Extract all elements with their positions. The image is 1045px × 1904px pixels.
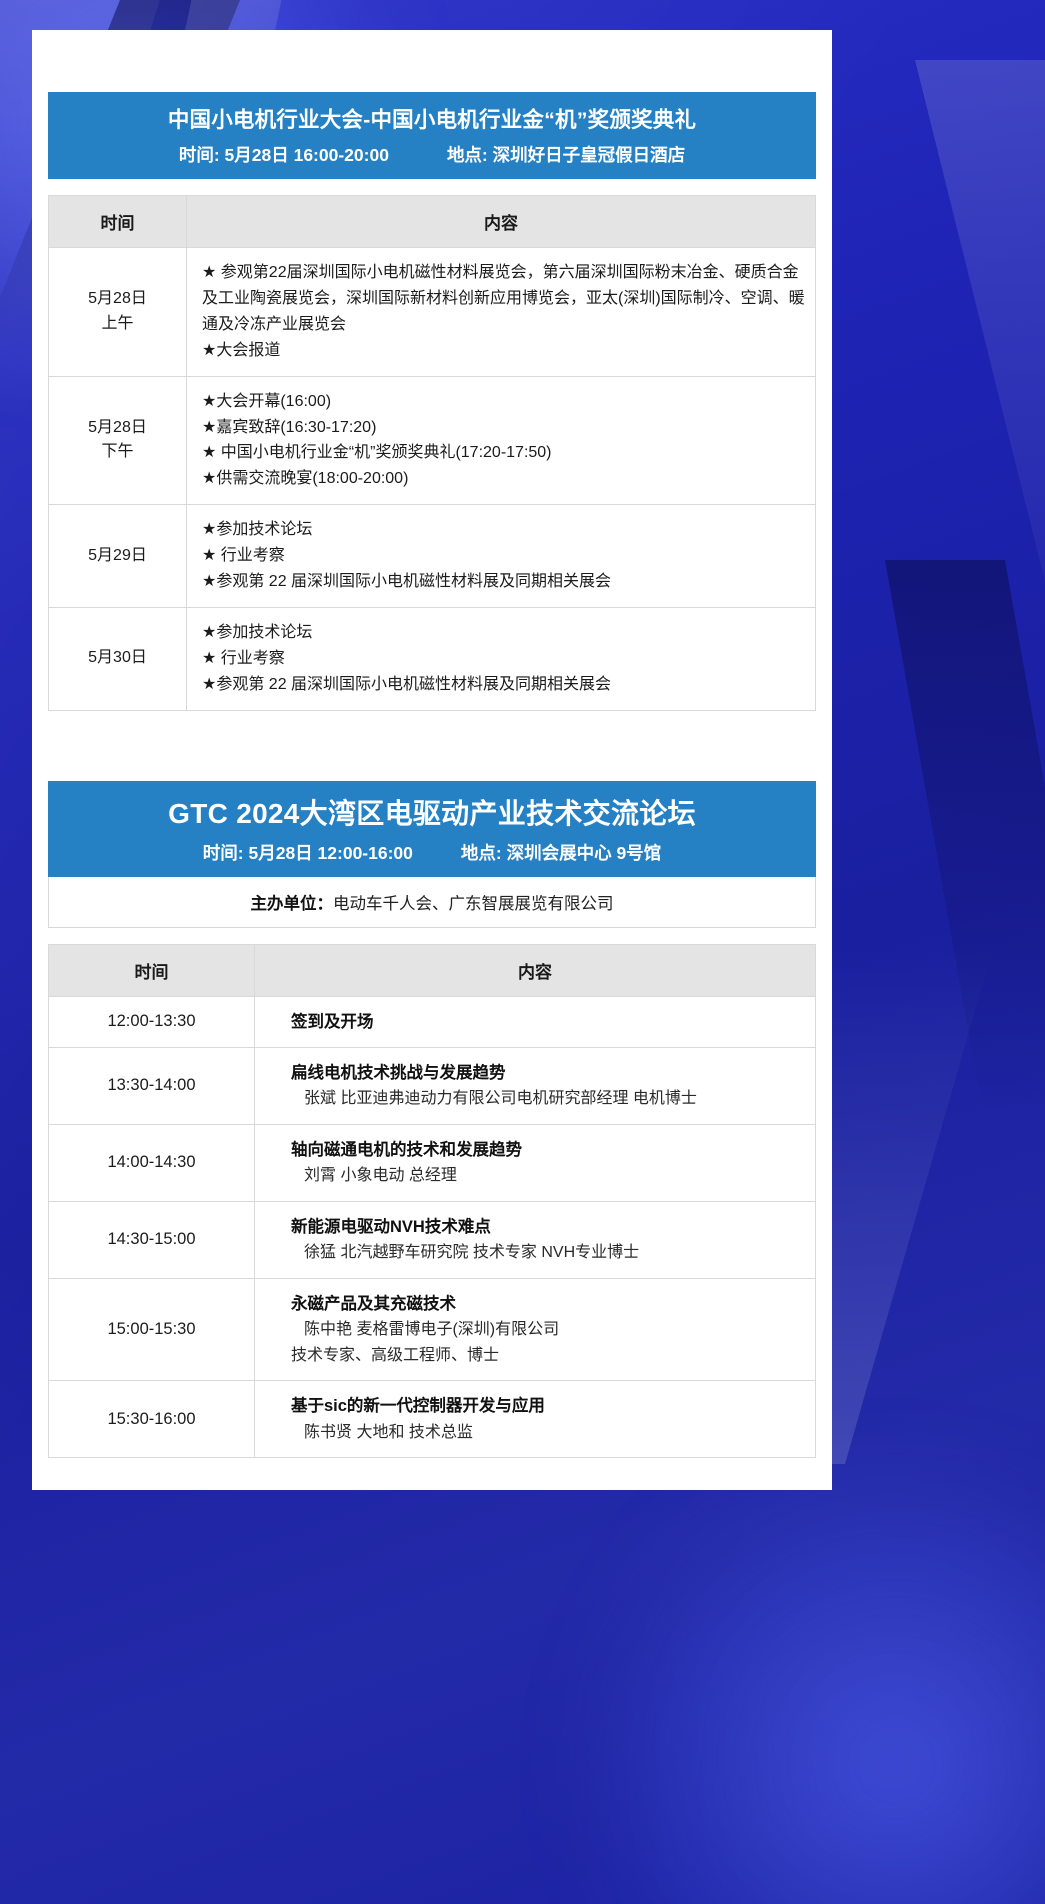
row-content: 轴向磁通电机的技术和发展趋势 刘霄 小象电动 总经理 — [255, 1124, 816, 1201]
content-line: ★ 行业考察 — [202, 646, 805, 672]
section2-banner: GTC 2024大湾区电驱动产业技术交流论坛 时间: 5月28日 12:00-1… — [48, 781, 816, 877]
row-time: 15:30-16:00 — [49, 1381, 255, 1458]
content-line: ★嘉宾致辞(16:30-17:20) — [202, 415, 805, 441]
table-row: 14:00-14:30 轴向磁通电机的技术和发展趋势 刘霄 小象电动 总经理 — [49, 1124, 816, 1201]
content-line: ★参加技术论坛 — [202, 620, 805, 646]
row-time: 14:00-14:30 — [49, 1124, 255, 1201]
talk-speaker: 徐猛 北汽越野车研究院 技术专家 NVH专业博士 — [291, 1240, 805, 1266]
section1-time: 时间: 5月28日 16:00-20:00 — [179, 142, 389, 167]
row-time: 5月28日 下午 — [49, 376, 187, 505]
row-time: 15:00-15:30 — [49, 1278, 255, 1381]
row-content: 基于sic的新一代控制器开发与应用 陈书贤 大地和 技术总监 — [255, 1381, 816, 1458]
row-content: ★参加技术论坛 ★ 行业考察 ★参观第 22 届深圳国际小电机磁性材料展及同期相… — [187, 505, 816, 608]
section1-banner: 中国小电机行业大会-中国小电机行业金“机”奖颁奖典礼 时间: 5月28日 16:… — [48, 92, 816, 179]
background-glow-bottom — [545, 1464, 1045, 1904]
col-header-time: 时间 — [49, 944, 255, 996]
row-time: 5月29日 — [49, 505, 187, 608]
row-content: 签到及开场 — [255, 996, 816, 1047]
content-line: ★参观第 22 届深圳国际小电机磁性材料展及同期相关展会 — [202, 569, 805, 595]
talk-title: 扁线电机技术挑战与发展趋势 — [291, 1060, 805, 1086]
section2-place: 地点: 深圳会展中心 9号馆 — [461, 840, 661, 865]
section1-subtitle: 时间: 5月28日 16:00-20:00 地点: 深圳好日子皇冠假日酒店 — [58, 142, 806, 167]
table-row: 15:00-15:30 永磁产品及其充磁技术 陈中艳 麦格雷博电子(深圳)有限公… — [49, 1278, 816, 1381]
poster-content-card: 中国小电机行业大会-中国小电机行业金“机”奖颁奖典礼 时间: 5月28日 16:… — [32, 30, 832, 1490]
talk-speaker: 张斌 比亚迪弗迪动力有限公司电机研究部经理 电机博士 — [291, 1086, 805, 1112]
table-row: 5月29日 ★参加技术论坛 ★ 行业考察 ★参观第 22 届深圳国际小电机磁性材… — [49, 505, 816, 608]
content-line: ★ 参观第22届深圳国际小电机磁性材料展览会，第六届深圳国际粉末冶金、硬质合金及… — [202, 260, 805, 338]
table-row: 15:30-16:00 基于sic的新一代控制器开发与应用 陈书贤 大地和 技术… — [49, 1381, 816, 1458]
section2-title: GTC 2024大湾区电驱动产业技术交流论坛 — [58, 795, 806, 833]
content-line: ★参加技术论坛 — [202, 517, 805, 543]
section1-title: 中国小电机行业大会-中国小电机行业金“机”奖颁奖典礼 — [58, 106, 806, 135]
content-line: ★大会开幕(16:00) — [202, 389, 805, 415]
row-time: 13:30-14:00 — [49, 1047, 255, 1124]
talk-title: 轴向磁通电机的技术和发展趋势 — [291, 1137, 805, 1163]
table-row: 5月28日 下午 ★大会开幕(16:00) ★嘉宾致辞(16:30-17:20)… — [49, 376, 816, 505]
talk-speaker-line2: 技术专家、高级工程师、博士 — [291, 1343, 805, 1369]
talk-title: 签到及开场 — [291, 1009, 805, 1035]
section2-subtitle: 时间: 5月28日 12:00-16:00 地点: 深圳会展中心 9号馆 — [58, 840, 806, 865]
row-content: ★参加技术论坛 ★ 行业考察 ★参观第 22 届深圳国际小电机磁性材料展及同期相… — [187, 607, 816, 710]
content-line: ★供需交流晚宴(18:00-20:00) — [202, 466, 805, 492]
row-content: ★ 参观第22届深圳国际小电机磁性材料展览会，第六届深圳国际粉末冶金、硬质合金及… — [187, 248, 816, 377]
table-row: 5月30日 ★参加技术论坛 ★ 行业考察 ★参观第 22 届深圳国际小电机磁性材… — [49, 607, 816, 710]
row-time: 5月30日 — [49, 607, 187, 710]
col-header-time: 时间 — [49, 196, 187, 248]
col-header-content: 内容 — [187, 196, 816, 248]
talk-title: 永磁产品及其充磁技术 — [291, 1291, 805, 1317]
content-line: ★参观第 22 届深圳国际小电机磁性材料展及同期相关展会 — [202, 672, 805, 698]
talk-speaker: 陈书贤 大地和 技术总监 — [291, 1420, 805, 1446]
table-header-row: 时间 内容 — [49, 196, 816, 248]
organizer-label: 主办单位： — [251, 895, 334, 913]
section2-organizer-row: 主办单位：电动车千人会、广东智展展览有限公司 — [48, 877, 816, 928]
row-content: 新能源电驱动NVH技术难点 徐猛 北汽越野车研究院 技术专家 NVH专业博士 — [255, 1201, 816, 1278]
section2-agenda-table: 时间 内容 12:00-13:30 签到及开场 13:30-14:00 扁线电机… — [48, 944, 816, 1459]
content-line: ★ 行业考察 — [202, 543, 805, 569]
talk-title: 基于sic的新一代控制器开发与应用 — [291, 1393, 805, 1419]
table-header-row: 时间 内容 — [49, 944, 816, 996]
row-content: ★大会开幕(16:00) ★嘉宾致辞(16:30-17:20) ★ 中国小电机行… — [187, 376, 816, 505]
talk-title: 新能源电驱动NVH技术难点 — [291, 1214, 805, 1240]
table-row: 5月28日 上午 ★ 参观第22届深圳国际小电机磁性材料展览会，第六届深圳国际粉… — [49, 248, 816, 377]
table-row: 12:00-13:30 签到及开场 — [49, 996, 816, 1047]
organizer-value: 电动车千人会、广东智展展览有限公司 — [333, 895, 614, 913]
col-header-content: 内容 — [255, 944, 816, 996]
table-row: 14:30-15:00 新能源电驱动NVH技术难点 徐猛 北汽越野车研究院 技术… — [49, 1201, 816, 1278]
section-divider-space — [48, 711, 816, 739]
section2-time: 时间: 5月28日 12:00-16:00 — [203, 840, 413, 865]
section1-place: 地点: 深圳好日子皇冠假日酒店 — [447, 142, 685, 167]
talk-speaker: 陈中艳 麦格雷博电子(深圳)有限公司 — [291, 1317, 805, 1343]
row-content: 扁线电机技术挑战与发展趋势 张斌 比亚迪弗迪动力有限公司电机研究部经理 电机博士 — [255, 1047, 816, 1124]
section-gap — [48, 739, 816, 781]
content-line: ★ 中国小电机行业金“机”奖颁奖典礼(17:20-17:50) — [202, 440, 805, 466]
table-row: 13:30-14:00 扁线电机技术挑战与发展趋势 张斌 比亚迪弗迪动力有限公司… — [49, 1047, 816, 1124]
section1-agenda-table: 时间 内容 5月28日 上午 ★ 参观第22届深圳国际小电机磁性材料展览会，第六… — [48, 195, 816, 711]
row-time: 14:30-15:00 — [49, 1201, 255, 1278]
row-content: 永磁产品及其充磁技术 陈中艳 麦格雷博电子(深圳)有限公司 技术专家、高级工程师… — [255, 1278, 816, 1381]
row-time: 5月28日 上午 — [49, 248, 187, 377]
content-line: ★大会报道 — [202, 338, 805, 364]
talk-speaker: 刘霄 小象电动 总经理 — [291, 1163, 805, 1189]
row-time: 12:00-13:30 — [49, 996, 255, 1047]
